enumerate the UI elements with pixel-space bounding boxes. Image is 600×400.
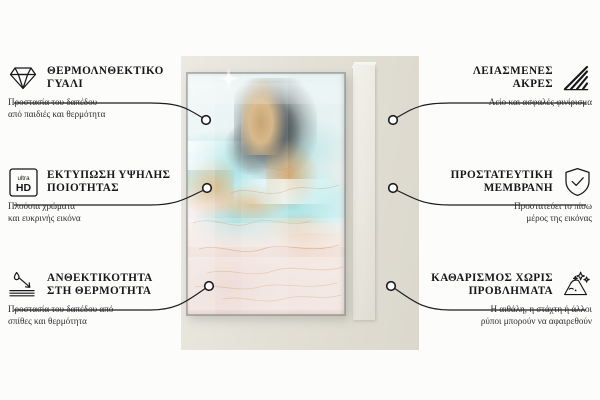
feature-title: ΛΕΙΑΣΜΕΝΕΣ ΑΚΡΕΣ bbox=[473, 64, 553, 92]
feature-description: Η αιθάλη, η στάχτη ή άλλοι ρύποι μπορούν… bbox=[406, 304, 592, 327]
feature-heat-resistant-glass: ΘΕΡΜΟΛΝΘΕΚΤΙΚΟ ΓΥΑΛΙ Προστασία του δαπέδ… bbox=[8, 64, 194, 120]
feature-description: Προστατεύει το πίσω μέρος της εικόνας bbox=[406, 201, 592, 224]
feature-title: ΘΕΡΜΟΛΝΘΕΚΤΙΚΟ ΓΥΑΛΙ bbox=[47, 64, 164, 92]
connector-dot bbox=[389, 184, 398, 193]
ultra-hd-badge-icon: ultra HD bbox=[8, 167, 38, 197]
feature-description: Λείο και ασφαλές φινίρισμα bbox=[406, 97, 592, 109]
polished-edges-icon bbox=[562, 63, 592, 93]
connector-dot bbox=[389, 116, 398, 125]
feature-polished-edges: ΛΕΙΑΣΜΕΝΕΣ ΑΚΡΕΣ Λείο και ασφαλές φινίρι… bbox=[406, 64, 592, 109]
connector-dot bbox=[202, 116, 211, 125]
diamond-icon bbox=[8, 63, 38, 93]
connector-dot bbox=[203, 184, 212, 193]
svg-text:HD: HD bbox=[15, 182, 31, 194]
connector-dot bbox=[205, 282, 214, 291]
feature-title: ΠΡΟΣΤΑΤΕΥΤΙΚΗ ΜΕΜΒΡΑΝΗ bbox=[451, 168, 553, 196]
easy-cleaning-icon bbox=[562, 270, 592, 300]
feature-title: ΕΚΤΥΠΩΣΗ ΥΨΗΛΗΣ ΠΟΙΟΤΗΤΑΣ bbox=[47, 168, 170, 196]
feature-easy-cleaning: ΚΑΘΑΡΙΣΜΟΣ ΧΩΡΙΣ ΠΡΟΒΛΗΜΑΤΑ Η αιθάλη, η … bbox=[406, 271, 592, 327]
feature-description: Πλούσια χρώματα και ευκρινής εικόνα bbox=[8, 201, 194, 224]
shield-check-icon bbox=[562, 167, 592, 197]
feature-heat-durability: ΑΝΘΕΚΤΙΚΟΤΗΤΑ ΣΤΗ ΘΕΡΜΟΤΗΤΑ Προστασία το… bbox=[8, 271, 194, 327]
feature-description: Προστασία του δαπέδου από παιδιές και θε… bbox=[8, 97, 194, 120]
connector-dot bbox=[387, 282, 396, 291]
feature-title: ΑΝΘΕΚΤΙΚΟΤΗΤΑ ΣΤΗ ΘΕΡΜΟΤΗΤΑ bbox=[47, 271, 153, 299]
feature-description: Προστασία του δαπέδου από σπίθες και θερ… bbox=[8, 304, 194, 327]
feature-title: ΚΑΘΑΡΙΣΜΟΣ ΧΩΡΙΣ ΠΡΟΒΛΗΜΑΤΑ bbox=[431, 271, 553, 299]
feature-protective-membrane: ΠΡΟΣΤΑΤΕΥΤΙΚΗ ΜΕΜΒΡΑΝΗ Προστατεύει το πί… bbox=[406, 168, 592, 224]
svg-text:ultra: ultra bbox=[17, 175, 30, 182]
feature-high-quality-print: ultra HD ΕΚΤΥΠΩΣΗ ΥΨΗΛΗΣ ΠΟΙΟΤΗΤΑΣ Πλούσ… bbox=[8, 168, 194, 224]
infographic-stage: ΘΕΡΜΟΛΝΘΕΚΤΙΚΟ ΓΥΑΛΙ Προστασία του δαπέδ… bbox=[0, 0, 600, 400]
heat-resistance-icon bbox=[8, 270, 38, 300]
